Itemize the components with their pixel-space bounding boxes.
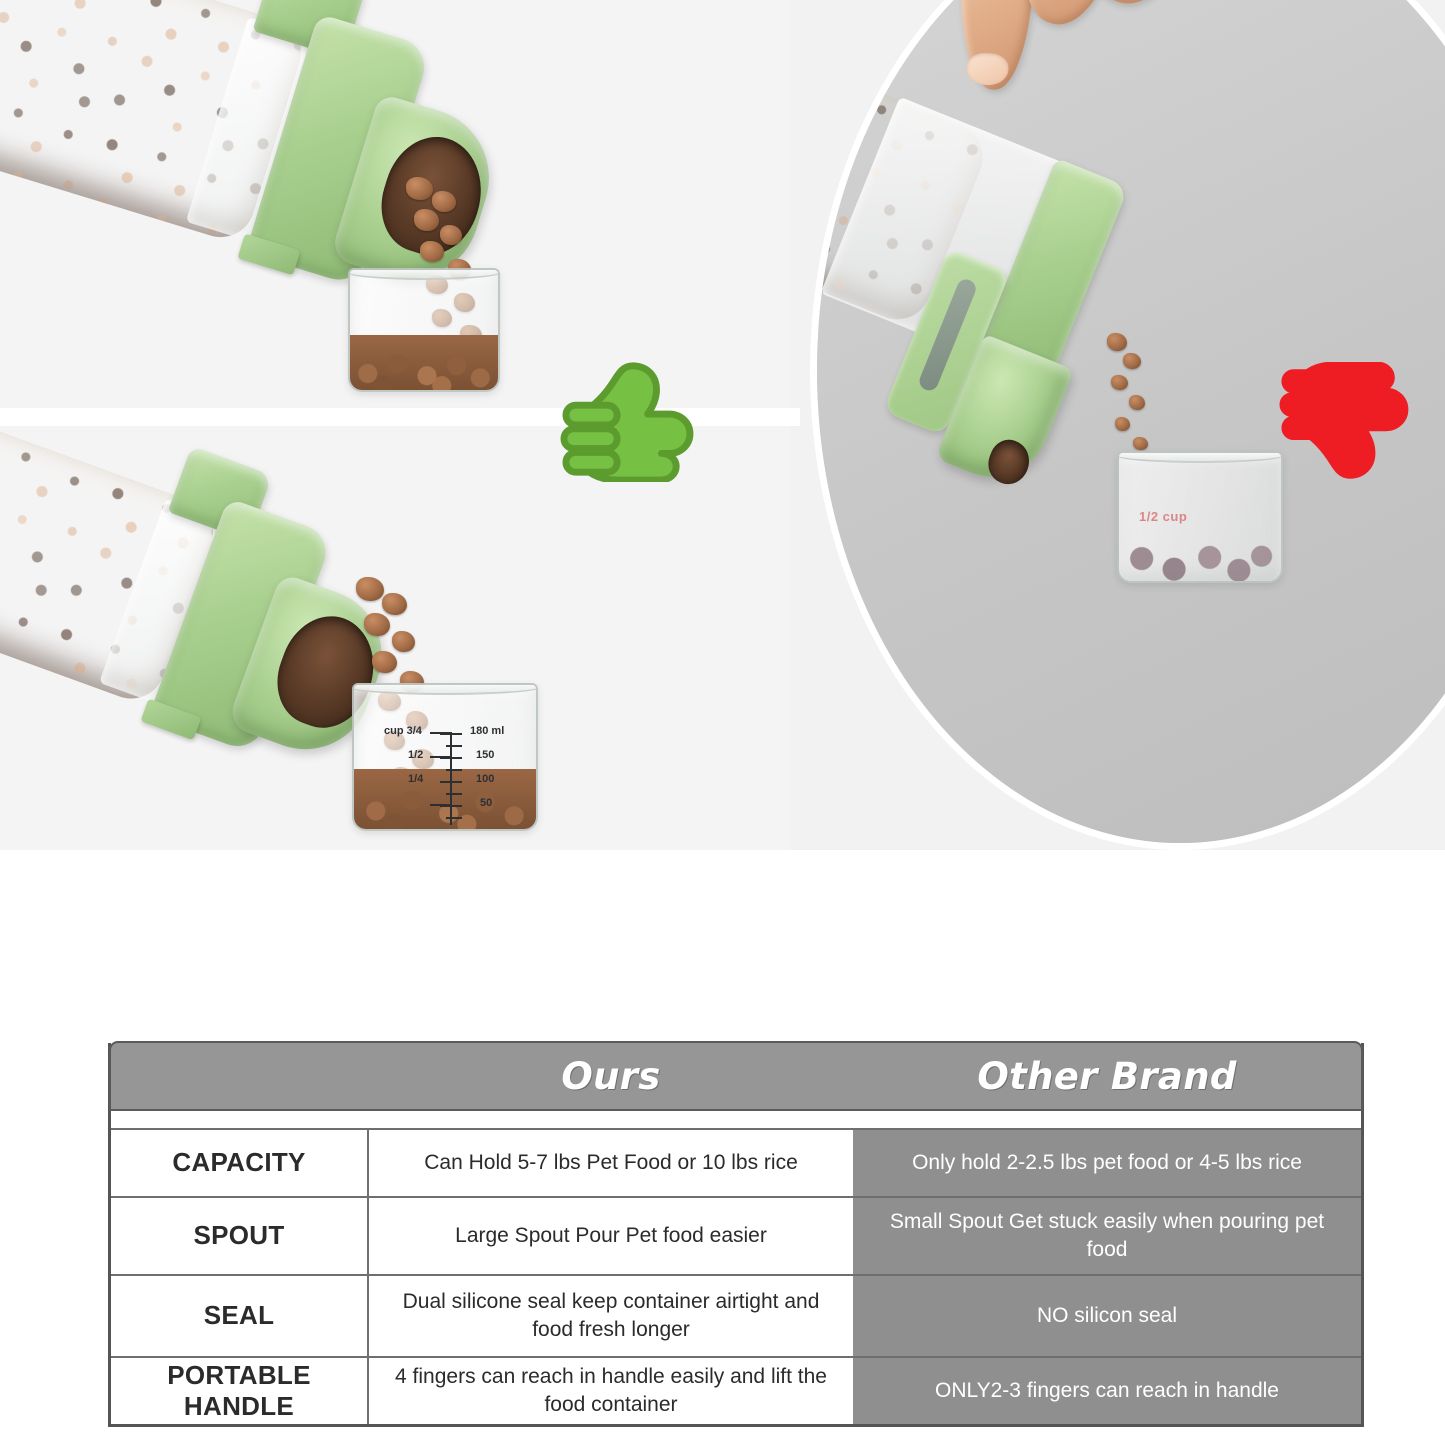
feature-label: CAPACITY — [172, 1147, 305, 1178]
other-value: ONLY2-3 fingers can reach in handle — [935, 1377, 1279, 1405]
table-row: SEAL Dual silicone seal keep container a… — [111, 1274, 1361, 1356]
photo-panel-bottom-left-ours: cup 3/4 1/2 1/4 180 ml 150 100 50 — [0, 425, 790, 850]
cell-feature: CAPACITY — [111, 1130, 369, 1196]
feature-label: SPOUT — [193, 1220, 284, 1251]
cell-feature: SPOUT — [111, 1198, 369, 1274]
ours-value: Can Hold 5-7 lbs Pet Food or 10 lbs rice — [424, 1149, 798, 1177]
measuring-cup-ours-bottom: cup 3/4 1/2 1/4 180 ml 150 100 50 — [352, 683, 538, 831]
cell-other-brand: ONLY2-3 fingers can reach in handle — [853, 1358, 1361, 1424]
table-row: CAPACITY Can Hold 5-7 lbs Pet Food or 10… — [111, 1128, 1361, 1196]
thumbs-up-icon — [556, 356, 694, 482]
header-label-other-brand: Other Brand — [977, 1055, 1236, 1098]
table-header-row: Ours Other Brand — [109, 1041, 1363, 1111]
cup-label-right-2: 100 — [476, 773, 494, 785]
cup-label-left-1: 1/2 — [408, 749, 423, 761]
cup-rim — [348, 268, 500, 280]
table-row: SPOUT Large Spout Pour Pet food easier S… — [111, 1196, 1361, 1274]
ours-value: Large Spout Pour Pet food easier — [455, 1222, 767, 1250]
table-row: PORTABLE HANDLE 4 fingers can reach in h… — [111, 1356, 1361, 1424]
cell-feature: SEAL — [111, 1276, 369, 1356]
cup-kibble-fill — [350, 335, 498, 390]
header-body-gap — [111, 1111, 1361, 1128]
header-cell-ours: Ours — [369, 1043, 853, 1109]
other-value: NO silicon seal — [1037, 1302, 1177, 1330]
cell-other-brand: Only hold 2-2.5 lbs pet food or 4-5 lbs … — [853, 1130, 1361, 1196]
other-value: Small Spout Get stuck easily when pourin… — [867, 1208, 1347, 1263]
cup-label-right-0: 180 ml — [470, 725, 504, 737]
cup-label-left-0: cup 3/4 — [384, 725, 422, 737]
header-cell-other-brand: Other Brand — [853, 1043, 1361, 1109]
cup-label-right-1: 150 — [476, 749, 494, 761]
cell-ours: Can Hold 5-7 lbs Pet Food or 10 lbs rice — [369, 1130, 853, 1196]
cup-measurement-scale: cup 3/4 1/2 1/4 180 ml 150 100 50 — [354, 685, 536, 829]
feature-label: SEAL — [204, 1300, 275, 1331]
cell-feature: PORTABLE HANDLE — [111, 1358, 369, 1424]
photo-panel-top-left-ours — [0, 0, 790, 415]
header-cell-feature — [111, 1043, 369, 1109]
feature-label: PORTABLE HANDLE — [119, 1360, 359, 1422]
cell-ours: Dual silicone seal keep container airtig… — [369, 1276, 853, 1356]
thumbs-down-icon — [1274, 362, 1410, 486]
cup-label-right-3: 50 — [480, 797, 492, 809]
infographic-page: cup 3/4 1/2 1/4 180 ml 150 100 50 — [0, 0, 1445, 1445]
ours-value: 4 fingers can reach in handle easily and… — [383, 1363, 839, 1418]
cell-ours: 4 fingers can reach in handle easily and… — [369, 1358, 853, 1424]
cup-sparse-kibble — [1119, 522, 1281, 581]
kibble-stream-other — [1103, 333, 1243, 463]
cell-other-brand: Small Spout Get stuck easily when pourin… — [853, 1198, 1361, 1274]
cup-label-left-2: 1/4 — [408, 773, 423, 785]
cell-other-brand: NO silicon seal — [853, 1276, 1361, 1356]
cell-ours: Large Spout Pour Pet food easier — [369, 1198, 853, 1274]
header-label-ours: Ours — [561, 1055, 660, 1098]
headline-section: How To Choose A Good Portable PET FOOD C… — [0, 850, 1445, 1040]
cup-scale-mark: 1/2 cup — [1139, 509, 1187, 524]
ours-value: Dual silicone seal keep container airtig… — [383, 1288, 839, 1343]
other-value: Only hold 2-2.5 lbs pet food or 4-5 lbs … — [912, 1149, 1302, 1177]
cup-rim — [1117, 451, 1283, 463]
measuring-cup-other: 1/2 cup — [1117, 451, 1283, 583]
measuring-cup-ours-top — [348, 268, 500, 392]
comparison-table: Ours Other Brand CAPACITY Can Hold 5-7 l… — [108, 1043, 1364, 1427]
photo-collage: cup 3/4 1/2 1/4 180 ml 150 100 50 — [0, 0, 1445, 850]
